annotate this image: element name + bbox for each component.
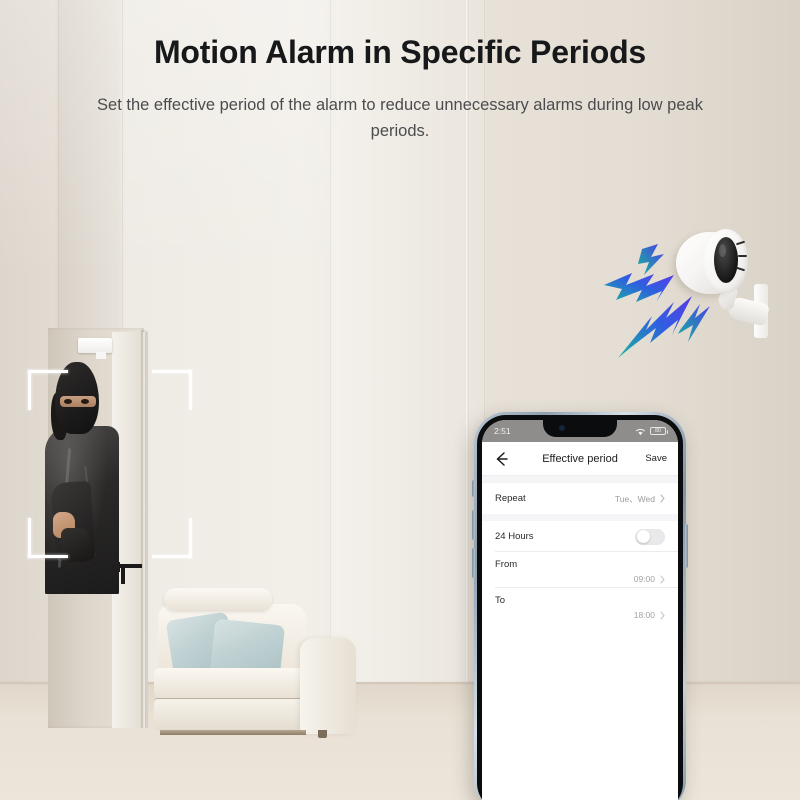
sofa-headrest [164,588,272,610]
settings-row-from[interactable]: From 09:00 [482,552,678,588]
detection-bracket-bottom-left [28,518,68,558]
status-bar-indicators: 80 [635,427,666,436]
phone-volume-down-button[interactable] [472,548,475,578]
wifi-icon [635,427,646,436]
sofa-armrest [300,638,356,734]
phone-mute-switch[interactable] [472,480,475,497]
from-value-group: 09:00 [634,574,665,584]
to-value-group: 18:00 [634,610,665,620]
security-camera [676,228,760,340]
lightning-bolt-long-middle [604,273,674,302]
status-bar: 2:51 80 [482,420,678,442]
app-navbar: Effective period Save [482,442,678,476]
status-bar-time: 2:51 [494,426,511,436]
door-shadow [141,330,149,728]
detection-bracket-bottom-right [152,518,192,558]
to-value: 18:00 [634,610,655,620]
repeat-label: Repeat [495,493,526,504]
repeat-value-group: Tue、Wed [615,493,665,505]
settings-row-repeat[interactable]: Repeat Tue、Wed [482,483,678,514]
save-button[interactable]: Save [645,453,667,464]
battery-level-label: 80 [655,428,661,434]
from-label: From [495,559,517,570]
sofa-foot-rail [160,730,306,735]
sofa-leg [318,730,327,738]
list-gap [482,476,678,483]
settings-row-24hours[interactable]: 24 Hours [482,521,678,552]
detection-bracket-top-right [152,370,192,410]
phone-power-button[interactable] [685,524,688,568]
front-camera-icon [559,425,565,431]
screen-empty-area [482,624,678,800]
page-title: Motion Alarm in Specific Periods [0,34,800,71]
camera-lens-icon [714,237,738,283]
repeat-value: Tue、Wed [615,493,655,505]
from-value: 09:00 [634,574,655,584]
phone-volume-up-button[interactable] [472,510,475,540]
battery-icon: 80 [650,427,666,435]
living-room-sofa [150,588,382,740]
lightning-bolt-small-top [638,244,664,275]
phone-screen: 2:51 80 [482,420,678,800]
24hours-label: 24 Hours [495,531,534,542]
chevron-right-icon [660,494,665,503]
intruder-eye-right [81,399,89,404]
toggle-knob [637,530,650,543]
detection-bracket-top-left [28,370,68,410]
door-sensor-magnet-icon [96,352,106,359]
promo-banner: Motion Alarm in Specific Periods Set the… [0,0,800,800]
settings-row-to[interactable]: To 18:00 [482,588,678,624]
sofa-seat-cushion [154,668,306,698]
chevron-right-icon [660,611,665,620]
chevron-right-icon [660,575,665,584]
list-gap [482,514,678,521]
to-label: To [495,595,505,606]
arrow-left-icon[interactable] [493,450,511,468]
door-sensor-icon [78,338,112,353]
24hours-toggle[interactable] [635,529,665,545]
phone-notch [543,420,617,437]
page-subtitle: Set the effective period of the alarm to… [70,92,730,144]
phone-mockup: 2:51 80 [474,412,686,800]
sofa-base [154,698,306,730]
camera-vent [738,255,747,257]
